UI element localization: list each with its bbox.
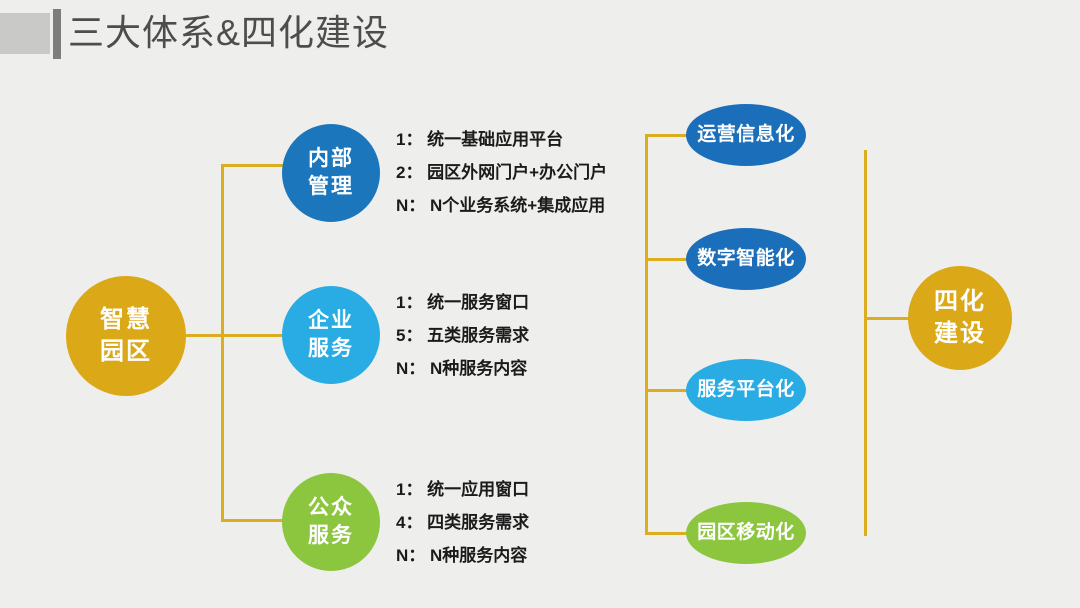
node-park-mobilization-label: 园区移动化 (697, 520, 795, 546)
connector-right-spine (864, 150, 867, 536)
node-internal-management[interactable]: 内部 管理 (282, 124, 380, 222)
node-service-platformization[interactable]: 服务平台化 (686, 359, 806, 421)
node-internal-management-line2: 管理 (308, 173, 354, 201)
detail-row: N： N种服务内容 (396, 352, 529, 385)
detail-row: 1： 统一应用窗口 (396, 473, 529, 506)
node-enterprise-service[interactable]: 企业 服务 (282, 286, 380, 384)
detail-row: 1： 统一服务窗口 (396, 286, 529, 319)
header-accent-bar (53, 9, 61, 59)
node-four-modernizations-construction[interactable]: 四化 建设 (908, 266, 1012, 370)
slide-canvas: 三大体系&四化建设 智慧 园区 内部 管理 企业 服务 公众 服务 1： 统一基… (0, 0, 1080, 608)
node-digital-intelligence[interactable]: 数字智能化 (686, 228, 806, 290)
detail-row: 5： 五类服务需求 (396, 319, 529, 352)
details-public-service: 1： 统一应用窗口 4： 四类服务需求 N： N种服务内容 (396, 473, 529, 572)
detail-row: N： N个业务系统+集成应用 (396, 189, 607, 222)
node-public-service-line1: 公众 (308, 494, 354, 522)
node-goal-line2: 建设 (934, 318, 986, 350)
connector-branch-internal-management (221, 164, 283, 167)
node-operation-informatization-label: 运营信息化 (697, 122, 795, 148)
connector-branch-enterprise-service (221, 334, 283, 337)
node-park-mobilization[interactable]: 园区移动化 (686, 502, 806, 564)
node-public-service-line2: 服务 (308, 522, 354, 550)
node-smart-park[interactable]: 智慧 园区 (66, 276, 186, 396)
connector-root-stub (186, 334, 226, 337)
connector-mid-spine (645, 134, 648, 534)
node-internal-management-line1: 内部 (308, 145, 354, 173)
detail-row: 2： 园区外网门户+办公门户 (396, 156, 607, 189)
page-title: 三大体系&四化建设 (68, 8, 389, 58)
connector-goal-stub (864, 317, 910, 320)
node-smart-park-line2: 园区 (100, 336, 152, 368)
node-goal-line1: 四化 (934, 286, 986, 318)
node-service-platformization-label: 服务平台化 (697, 377, 795, 403)
header-accent-block (0, 13, 50, 54)
node-public-service[interactable]: 公众 服务 (282, 473, 380, 571)
detail-row: N： N种服务内容 (396, 539, 529, 572)
node-digital-intelligence-label: 数字智能化 (697, 246, 795, 272)
details-enterprise-service: 1： 统一服务窗口 5： 五类服务需求 N： N种服务内容 (396, 286, 529, 385)
node-operation-informatization[interactable]: 运营信息化 (686, 104, 806, 166)
connector-branch-public-service (221, 519, 283, 522)
detail-row: 1： 统一基础应用平台 (396, 123, 607, 156)
detail-row: 4： 四类服务需求 (396, 506, 529, 539)
node-smart-park-line1: 智慧 (100, 304, 152, 336)
node-enterprise-service-line1: 企业 (308, 307, 354, 335)
details-internal-management: 1： 统一基础应用平台 2： 园区外网门户+办公门户 N： N个业务系统+集成应… (396, 123, 607, 222)
node-enterprise-service-line2: 服务 (308, 335, 354, 363)
connector-left-spine (221, 164, 224, 521)
